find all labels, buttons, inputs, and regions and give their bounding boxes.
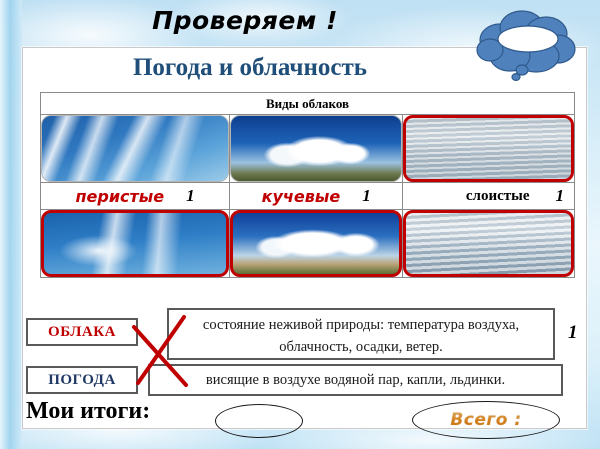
cumulus-clouds-photo-2 (230, 210, 402, 277)
cumulus-clouds-photo (230, 115, 402, 182)
table-row-photos-bottom (41, 210, 575, 278)
my-results-label: Мои итоги: (26, 398, 150, 425)
cell-label-cumulus: кучевые 1 (230, 183, 403, 210)
total-ellipse[interactable]: Всего : (412, 401, 560, 439)
term-box-pogoda[interactable]: ПОГОДА (26, 366, 138, 394)
score-stratus: 1 (556, 186, 565, 206)
stratus-clouds-photo (403, 115, 574, 182)
term-box-oblaka[interactable]: ОБЛАКА (26, 318, 138, 346)
definition-box-weather[interactable]: состояние неживой природы: температура в… (167, 308, 555, 360)
cirrus-clouds-photo (41, 115, 229, 182)
my-results-value-ellipse[interactable] (215, 404, 303, 438)
score-cumulus: 1 (362, 186, 371, 206)
cloud-label-cirrus: перистые (75, 187, 164, 206)
score-cirrus: 1 (186, 186, 195, 206)
cell-label-stratus: слоистые 1 (403, 183, 575, 210)
table-row-labels: перистые 1 кучевые 1 слоистые 1 (41, 183, 575, 210)
cell-cumulus-photo-top (230, 115, 403, 183)
cell-cirrus-photo-bottom (41, 210, 230, 278)
cirrus-clouds-photo-2 (41, 210, 229, 277)
thought-cloud-icon (466, 4, 586, 84)
cell-cirrus-photo-top (41, 115, 230, 183)
table-header-row: Виды облаков (41, 93, 575, 115)
stratus-clouds-photo-2 (403, 210, 574, 277)
definition-box-clouds[interactable]: висящие в воздухе водяной пар, капли, ль… (148, 364, 563, 396)
table-row-photos-top (41, 115, 575, 183)
cloud-types-table: Виды облаков перистые 1 кучевые 1 сло (40, 92, 575, 278)
total-label: Всего : (450, 410, 521, 430)
cell-stratus-photo-top (403, 115, 575, 183)
cell-cumulus-photo-bottom (230, 210, 403, 278)
table-header-title: Виды облаков (41, 93, 575, 115)
red-x-cross-lines (128, 305, 208, 390)
cloud-label-stratus: слоистые (466, 188, 530, 205)
cell-label-cirrus: перистые 1 (41, 183, 230, 210)
cell-stratus-photo-bottom (403, 210, 575, 278)
score-matching: 1 (568, 322, 578, 344)
cloud-label-cumulus: кучевые (262, 187, 341, 206)
